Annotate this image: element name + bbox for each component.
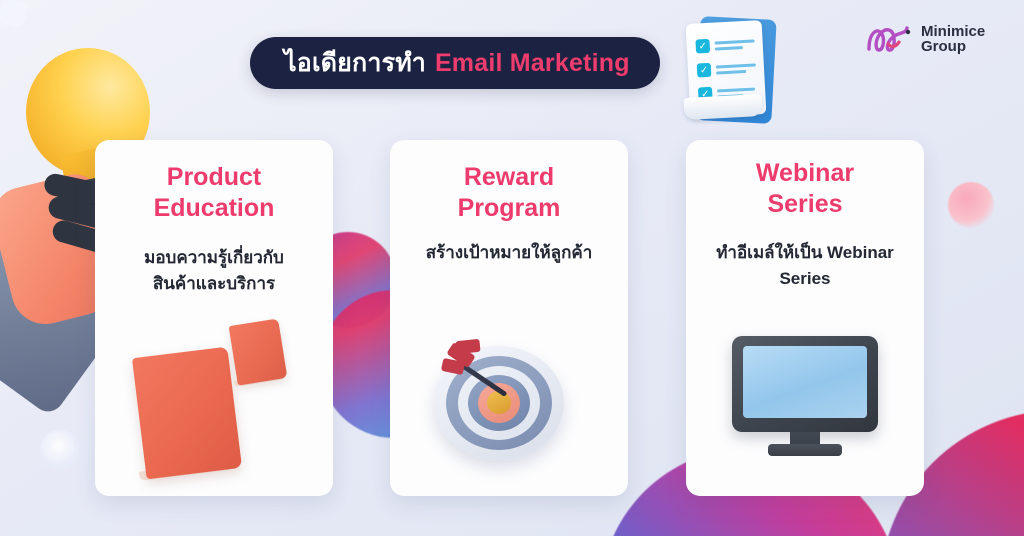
card-2-title-line-2: Program bbox=[402, 193, 616, 224]
card-3-subtitle-line-2: Series bbox=[700, 266, 910, 292]
monitor-graphic bbox=[732, 336, 878, 460]
card-1-subtitle-line-2: สินค้าและบริการ bbox=[109, 271, 319, 297]
banner-thai-text: ไอเดียการทำ bbox=[284, 43, 426, 83]
card-1-title-line-2: Education bbox=[107, 193, 321, 224]
monitor-bezel bbox=[732, 336, 878, 432]
card-2-subtitle: สร้างเป้าหมายให้ลูกค้า bbox=[404, 240, 614, 266]
arrow-fletching-2 bbox=[455, 339, 480, 354]
check-icon-2: ✓ bbox=[697, 63, 712, 78]
target-graphic bbox=[434, 338, 570, 464]
line bbox=[715, 46, 743, 50]
brand-logo: Minimice Group bbox=[866, 22, 985, 56]
card-1-title: Product Education bbox=[107, 162, 321, 223]
card-3-title-line-1: Webinar bbox=[698, 158, 912, 189]
card-1-subtitle-line-1: มอบความรู้เกี่ยวกับ bbox=[109, 245, 319, 271]
logo-wordmark: Minimice Group bbox=[921, 24, 985, 55]
decor-light-dot bbox=[40, 430, 80, 470]
card-2-title: Reward Program bbox=[402, 162, 616, 223]
card-2-title-line-1: Reward bbox=[402, 162, 616, 193]
infographic-canvas: ✓ ✓ ✓ bbox=[0, 0, 1024, 536]
logo-line-2: Group bbox=[921, 39, 985, 54]
card-3-subtitle: ทำอีเมล์ให้เป็น Webinar Series bbox=[700, 240, 910, 293]
monitor-screen bbox=[743, 346, 867, 418]
card-1-title-line-1: Product bbox=[107, 162, 321, 193]
card-product-education[interactable]: Product Education มอบความรู้เกี่ยวกับ สิ… bbox=[95, 140, 333, 496]
logo-line-1: Minimice bbox=[921, 24, 985, 39]
card-1-subtitle: มอบความรู้เกี่ยวกับ สินค้าและบริการ bbox=[109, 245, 319, 298]
checklist-row-2: ✓ bbox=[697, 60, 757, 77]
check-icon-1: ✓ bbox=[695, 39, 710, 54]
decor-pink-dot bbox=[948, 182, 994, 228]
book-large-cover bbox=[132, 347, 242, 480]
checklist-lines-2 bbox=[716, 63, 756, 74]
line bbox=[717, 87, 755, 92]
target-bullseye bbox=[487, 391, 511, 414]
banner-english-text: Email Marketing bbox=[435, 49, 630, 78]
line bbox=[716, 63, 756, 68]
clipboard-paper-curl bbox=[683, 94, 762, 120]
card-2-subtitle-line-1: สร้างเป้าหมายให้ลูกค้า bbox=[404, 240, 614, 266]
line bbox=[716, 69, 746, 74]
checklist-lines-1 bbox=[715, 39, 755, 50]
card-3-title-line-2: Series bbox=[698, 189, 912, 220]
card-webinar-series[interactable]: Webinar Series ทำอีเมล์ให้เป็น Webinar S… bbox=[686, 140, 924, 496]
decor-light-square bbox=[0, 0, 29, 29]
clipboard-checklist-icon: ✓ ✓ ✓ bbox=[684, 14, 776, 126]
minimice-m-mark-icon bbox=[866, 22, 912, 56]
card-3-title: Webinar Series bbox=[698, 158, 912, 219]
book-small-cover bbox=[229, 318, 288, 385]
target-with-arrow-icon bbox=[390, 316, 628, 486]
monitor-base bbox=[768, 444, 842, 456]
checklist-row-1: ✓ bbox=[695, 36, 755, 53]
line bbox=[715, 39, 755, 44]
computer-monitor-icon bbox=[686, 316, 924, 486]
books-icon bbox=[95, 316, 333, 486]
card-reward-program[interactable]: Reward Program สร้างเป้าหมายให้ลูกค้า bbox=[390, 140, 628, 496]
title-banner: ไอเดียการทำ Email Marketing bbox=[250, 37, 660, 89]
card-3-subtitle-line-1: ทำอีเมล์ให้เป็น Webinar bbox=[700, 240, 910, 266]
